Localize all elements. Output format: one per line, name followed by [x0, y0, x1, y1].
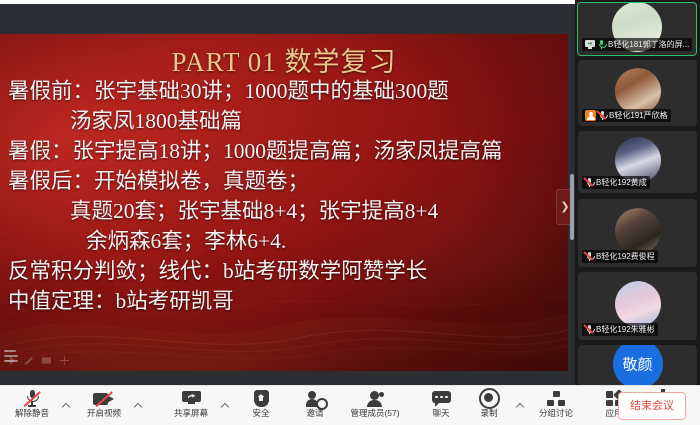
stamp-icon[interactable]	[60, 356, 69, 365]
video-options-caret-icon[interactable]	[135, 404, 143, 412]
stage-top-letterbox	[0, 4, 575, 34]
avatar-initials: 敬颜	[613, 354, 663, 375]
slide-line: 余炳森6套；李林6+4.	[8, 226, 564, 256]
slide-line: 汤家凤1800基础篇	[8, 106, 564, 136]
camera-off-icon	[76, 389, 132, 408]
breakout-rooms-icon	[528, 389, 584, 408]
share-options-caret-icon[interactable]	[222, 404, 230, 412]
start-video-label: 开启视频	[76, 408, 132, 419]
stage-scrollbar[interactable]	[570, 174, 574, 240]
microphone-muted-icon	[585, 325, 594, 335]
slide-body: 暑假前：张宇基础30讲；1000题中的基础300题 汤家凤1800基础篇 暑假：…	[8, 76, 564, 316]
share-screen-button[interactable]: 共享屏幕	[163, 389, 219, 423]
avatar	[615, 281, 661, 327]
host-icon	[585, 110, 596, 121]
participant-tile[interactable]: B轻化192费俊程	[578, 199, 697, 267]
start-video-button[interactable]: 开启视频	[76, 389, 132, 423]
participant-name: B轻化192费俊程	[596, 250, 655, 263]
participant-name-bar: B轻化192黄成	[582, 176, 650, 189]
invite-label: 邀请	[287, 408, 343, 419]
slide-title: PART 01 数学复习	[0, 40, 568, 79]
participant-name: B轻化191严欣格	[609, 109, 668, 122]
participant-panel[interactable]: B轻化181郭丁洛的屏... B轻化191严欣格 B轻化192黄成	[575, 0, 700, 386]
avatar	[615, 68, 661, 114]
manage-participants-label: 管理成员(57)	[340, 408, 410, 419]
participant-video: 敬颜	[578, 345, 697, 386]
record-label: 录制	[461, 408, 517, 419]
participant-tile[interactable]: B轻化181郭丁洛的屏...	[577, 2, 697, 56]
record-options-caret-icon[interactable]	[517, 404, 525, 412]
shield-icon	[233, 389, 289, 408]
record-icon	[461, 389, 517, 408]
meeting-toolbar[interactable]: 解除静音 开启视频 共享屏幕 安全 邀请	[0, 385, 700, 425]
participant-name-bar: B轻化191严欣格	[582, 109, 671, 122]
participant-name-bar: B轻化192朱雅彬	[582, 323, 658, 336]
participant-name: B轻化192黄成	[596, 176, 647, 189]
zoom-meeting-window: PART 01 数学复习 暑假前：张宇基础30讲；1000题中的基础300题 汤…	[0, 0, 700, 425]
security-label: 安全	[233, 408, 289, 419]
screen-share-icon	[585, 40, 595, 49]
slide-line: 暑假：张宇提高18讲；1000题提高篇；汤家凤提高篇	[8, 136, 564, 166]
participant-name: B轻化192朱雅彬	[596, 323, 655, 336]
breakout-rooms-button[interactable]: 分组讨论	[528, 389, 584, 423]
participant-tile[interactable]: B轻化192朱雅彬	[578, 272, 697, 340]
mic-off-icon	[4, 389, 60, 408]
record-button[interactable]: 录制	[461, 389, 517, 423]
microphone-muted-icon	[598, 111, 607, 121]
participant-name-bar: B轻化181郭丁洛的屏...	[582, 38, 692, 51]
avatar: 敬颜	[613, 345, 663, 386]
slide-line: 真题20套；张宇基础8+4；张宇提高8+4	[8, 196, 564, 226]
slide-line: 反常积分判敛；线代：b站考研数学阿赞学长	[8, 256, 564, 286]
microphone-muted-icon	[585, 252, 594, 262]
slide-line: 暑假后：开始模拟卷，真题卷；	[8, 166, 564, 196]
invite-button[interactable]: 邀请	[287, 389, 343, 423]
share-screen-label: 共享屏幕	[163, 408, 219, 419]
end-meeting-button[interactable]: 结束会议	[618, 392, 686, 420]
unmute-button[interactable]: 解除静音	[4, 389, 60, 423]
audio-options-caret-icon[interactable]	[63, 404, 71, 412]
eraser-icon[interactable]	[42, 356, 51, 365]
microphone-on-icon	[597, 40, 606, 50]
avatar	[615, 208, 661, 254]
participants-icon	[340, 389, 410, 408]
slide-line: 中值定理：b站考研凯哥	[8, 286, 564, 316]
participant-name: B轻化181郭丁洛的屏...	[608, 38, 689, 51]
share-screen-icon	[163, 389, 219, 408]
invite-icon	[287, 389, 343, 408]
microphone-muted-icon	[585, 178, 594, 188]
annotation-tools[interactable]	[6, 356, 69, 365]
breakout-rooms-label: 分组讨论	[528, 408, 584, 419]
slide-line: 暑假前：张宇基础30讲；1000题中的基础300题	[8, 76, 564, 106]
cursor-icon[interactable]	[6, 356, 15, 365]
participant-tile[interactable]: B轻化192黄成	[578, 131, 697, 193]
stage-bottom-letterbox	[0, 371, 575, 386]
manage-participants-button[interactable]: 管理成员(57)	[340, 389, 410, 423]
pen-icon[interactable]	[24, 356, 33, 365]
participant-tile[interactable]: 敬颜	[578, 345, 697, 386]
security-button[interactable]: 安全	[233, 389, 289, 423]
shared-screen-stage[interactable]: PART 01 数学复习 暑假前：张宇基础30讲；1000题中的基础300题 汤…	[0, 4, 575, 386]
unmute-label: 解除静音	[4, 408, 60, 419]
participant-tile[interactable]: B轻化191严欣格	[578, 60, 697, 126]
participant-name-bar: B轻化192费俊程	[582, 250, 658, 263]
shared-slide[interactable]: PART 01 数学复习 暑假前：张宇基础30讲；1000题中的基础300题 汤…	[0, 34, 568, 371]
